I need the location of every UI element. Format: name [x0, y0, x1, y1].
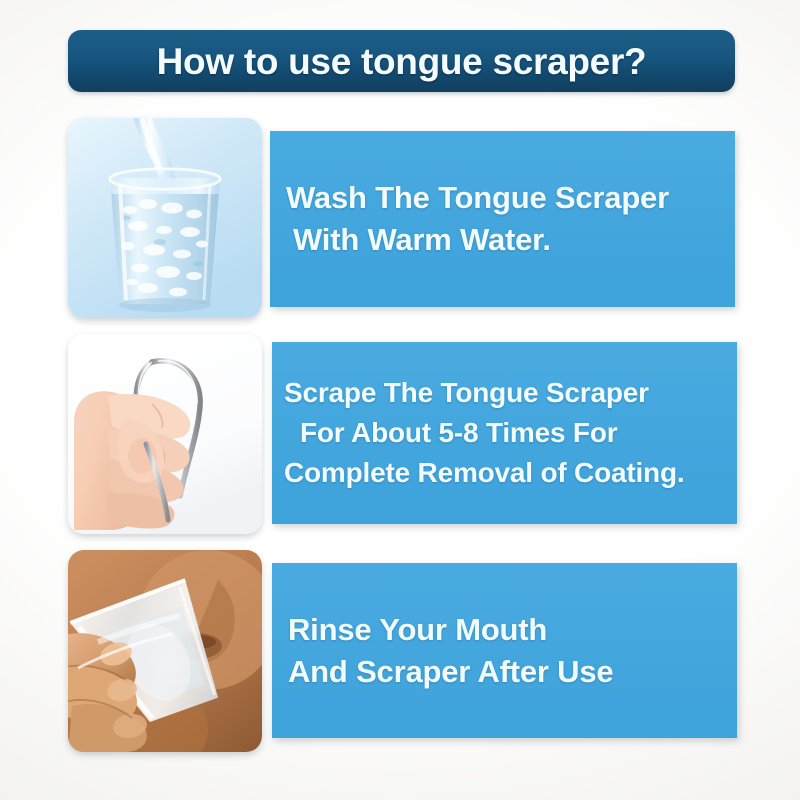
step-3-line-2: And Scraper After Use — [288, 651, 737, 693]
step-2-line-2: For About 5-8 Times For — [284, 413, 737, 453]
infographic-root: How to use tongue scraper? — [0, 0, 800, 800]
step-row-2: Scrape The Tongue Scraper For About 5-8 … — [0, 334, 800, 534]
step-3-line-1: Rinse Your Mouth — [288, 609, 737, 651]
hand-holding-tongue-scraper-photo — [68, 334, 262, 534]
title-banner: How to use tongue scraper? — [68, 30, 735, 92]
step-3-image — [68, 550, 262, 752]
step-1-image — [68, 118, 262, 318]
step-2-image — [68, 334, 262, 534]
step-row-3: Rinse Your Mouth And Scraper After Use — [0, 550, 800, 752]
person-rinsing-mouth-with-glass-photo — [68, 550, 262, 752]
step-row-1: Wash The Tongue Scraper With Warm Water. — [0, 118, 800, 318]
page-title: How to use tongue scraper? — [157, 43, 647, 80]
step-1-text-panel: Wash The Tongue Scraper With Warm Water. — [270, 131, 735, 307]
step-1-line-1: Wash The Tongue Scraper — [286, 177, 735, 219]
step-1-line-2: With Warm Water. — [286, 219, 735, 261]
step-2-line-3: Complete Removal of Coating. — [284, 453, 737, 493]
step-2-line-1: Scrape The Tongue Scraper — [284, 373, 737, 413]
step-3-text-panel: Rinse Your Mouth And Scraper After Use — [272, 563, 737, 738]
step-2-text-panel: Scrape The Tongue Scraper For About 5-8 … — [272, 342, 737, 524]
water-pouring-into-glass-photo — [68, 118, 262, 318]
